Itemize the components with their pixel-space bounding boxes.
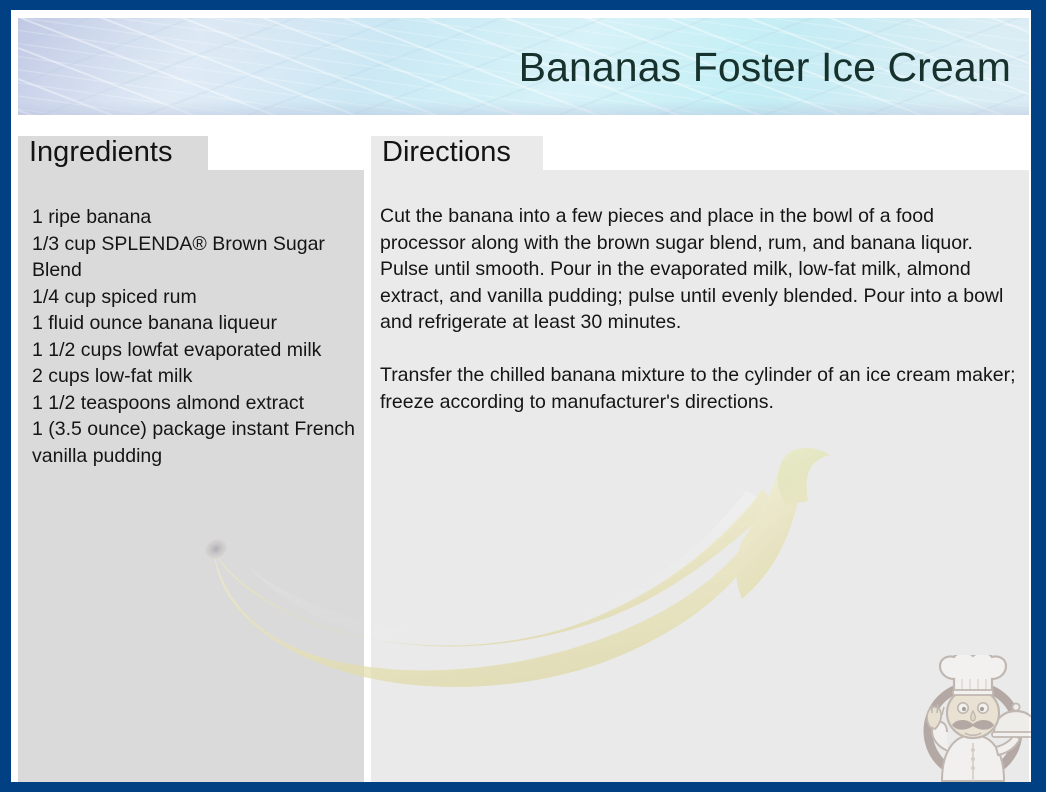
ingredients-list: 1 ripe banana 1/3 cup SPLENDA® Brown Sug… xyxy=(32,204,362,469)
recipe-slide: Bananas Foster Ice Cream Ingredients 1 r… xyxy=(0,0,1046,792)
ingredients-tab-label: Ingredients xyxy=(29,136,173,168)
ingredients-panel: Ingredients 1 ripe banana 1/3 cup SPLEND… xyxy=(18,170,364,782)
title-banner: Bananas Foster Ice Cream xyxy=(18,18,1029,115)
directions-paragraph: Cut the banana into a few pieces and pla… xyxy=(380,203,1024,336)
directions-panel: Directions Cut the banana into a few pie… xyxy=(371,170,1029,782)
list-item: 1 1/2 cups lowfat evaporated milk xyxy=(32,337,362,364)
directions-tab[interactable]: Directions xyxy=(371,136,543,170)
directions-paragraph: Transfer the chilled banana mixture to t… xyxy=(380,362,1024,415)
directions-tab-label: Directions xyxy=(382,136,511,168)
list-item: 1 (3.5 ounce) package instant French van… xyxy=(32,416,362,469)
list-item: 1/4 cup spiced rum xyxy=(32,284,362,311)
list-item: 1/3 cup SPLENDA® Brown Sugar Blend xyxy=(32,231,362,284)
list-item: 1 fluid ounce banana liqueur xyxy=(32,310,362,337)
page-title: Bananas Foster Ice Cream xyxy=(519,44,1011,91)
ingredients-tab[interactable]: Ingredients xyxy=(18,136,208,170)
directions-text: Cut the banana into a few pieces and pla… xyxy=(380,203,1024,415)
list-item: 1 ripe banana xyxy=(32,204,362,231)
slide-canvas: Bananas Foster Ice Cream Ingredients 1 r… xyxy=(11,10,1031,782)
list-item: 2 cups low-fat milk xyxy=(32,363,362,390)
list-item: 1 1/2 teaspoons almond extract xyxy=(32,390,362,417)
